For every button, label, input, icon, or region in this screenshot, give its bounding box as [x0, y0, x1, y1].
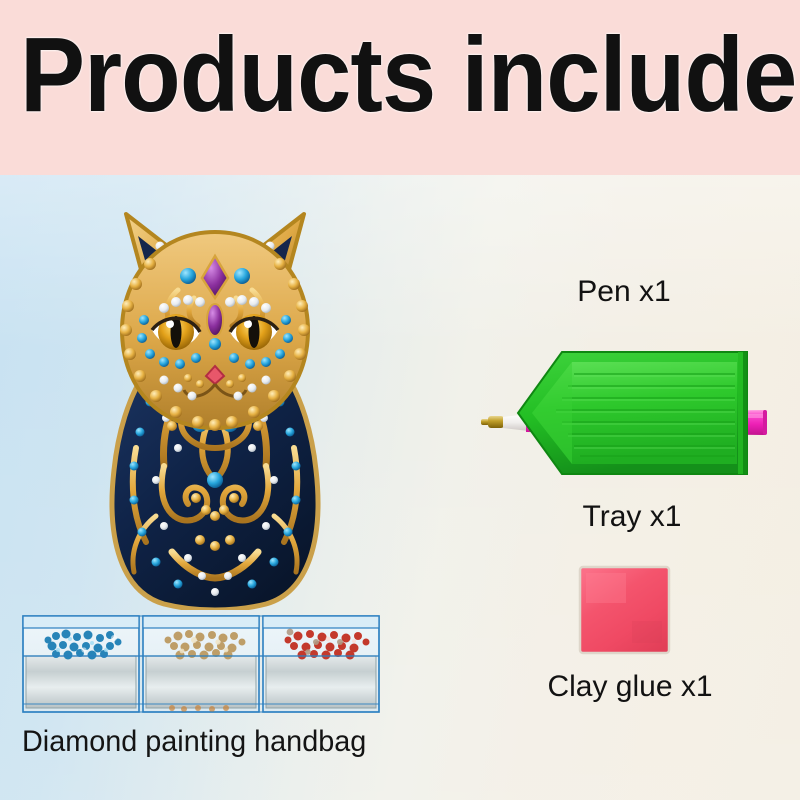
clay-glue-image — [578, 565, 671, 655]
product-include-infographic: Products include — [0, 0, 800, 800]
tray-label: Tray x1 — [583, 500, 682, 533]
header-banner: Products include — [0, 0, 800, 175]
content-area: Diamond painting handbag — [0, 175, 800, 800]
rhinestone-bags-illustration — [22, 612, 380, 714]
pen-label-wrap: Pen x1 — [481, 275, 767, 309]
diamond-tray-image — [516, 350, 749, 476]
tray-illustration — [516, 350, 749, 476]
cat-illustration — [60, 180, 370, 610]
clay-glue-label: Clay glue x1 — [547, 670, 712, 703]
pen-label: Pen x1 — [577, 275, 670, 308]
diamond-painting-handbag-image — [22, 612, 380, 714]
page-title: Products include — [20, 22, 728, 128]
clay-glue-label-wrap: Clay glue x1 — [470, 670, 790, 704]
jeweled-cat-artwork — [60, 180, 370, 610]
clay-glue-illustration — [578, 565, 671, 655]
handbag-label: Diamond painting handbag — [22, 725, 366, 759]
tray-label-wrap: Tray x1 — [487, 500, 777, 534]
